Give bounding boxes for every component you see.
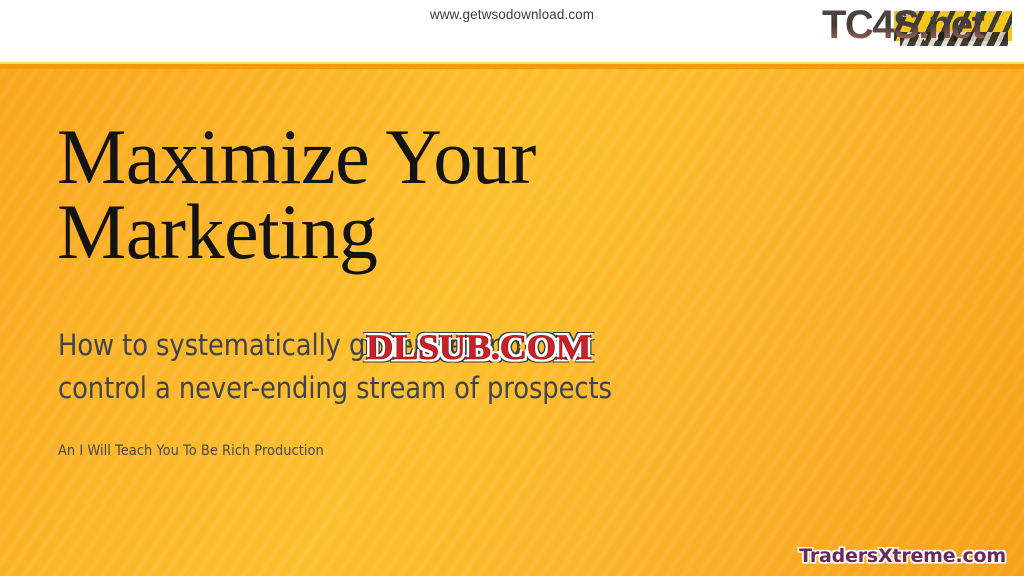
tradersxtreme-watermark: TradersXtreme.com [799, 545, 1006, 567]
top-accent-highlight [0, 62, 1024, 64]
production-credit: An I Will Teach You To Be Rich Productio… [58, 443, 324, 459]
title-line-2: Marketing [57, 195, 917, 270]
subtitle-line-2: control a never-ending stream of prospec… [58, 367, 811, 410]
slide-body: Maximize Your Marketing How to systemati… [0, 62, 1024, 576]
title-line-1: Maximize Your [57, 120, 917, 195]
dlsub-watermark: DLSUB.COM [366, 326, 591, 368]
tc4s-logo-text: TC4S.net [822, 2, 1018, 48]
presentation-slide: www.getwsodownload.com S S WO TC4S.net M… [0, 0, 1024, 576]
page-title: Maximize Your Marketing [57, 120, 917, 270]
tc4s-logo[interactable]: S S WO TC4S.net [822, 2, 1018, 54]
